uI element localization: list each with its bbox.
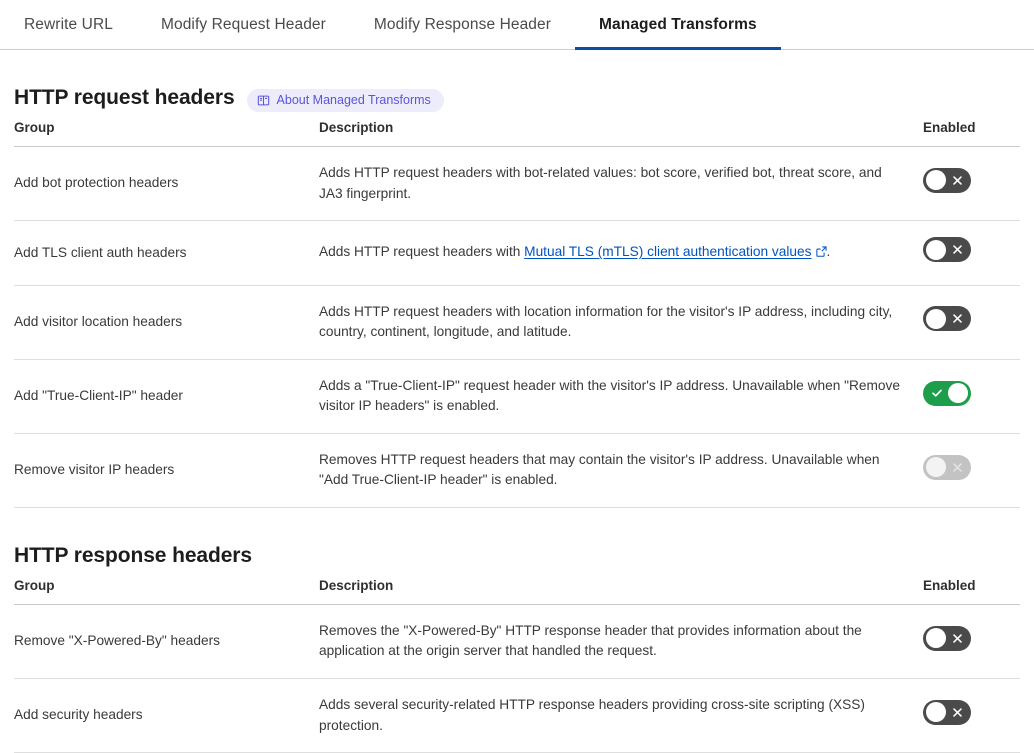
- row-description: Adds HTTP request headers with bot-relat…: [319, 147, 923, 221]
- response-section-title: HTTP response headers: [14, 544, 252, 568]
- tab-label: Managed Transforms: [599, 16, 757, 34]
- x-icon: [952, 455, 963, 480]
- tab-modify-request-header[interactable]: Modify Request Header: [137, 0, 350, 49]
- row-description: Removes the "X-Powered-By" HTTP response…: [319, 604, 923, 678]
- table-row: Remove "X-Powered-By" headers Removes th…: [14, 604, 1020, 678]
- row-enabled-cell: [923, 147, 1020, 221]
- row-enabled-cell: [923, 359, 1020, 433]
- toggle-knob: [926, 309, 946, 329]
- toggle-knob: [948, 383, 968, 403]
- row-description-after-link: .: [827, 244, 831, 259]
- toggle-add-visitor-location-headers[interactable]: [923, 306, 971, 331]
- row-enabled-cell: [923, 285, 1020, 359]
- request-section-header: HTTP request headers About Managed Trans…: [14, 76, 1020, 120]
- row-group-name: Add security headers: [14, 679, 319, 753]
- toggle-add-tls-client-auth-headers[interactable]: [923, 237, 971, 262]
- check-icon: [931, 381, 943, 406]
- row-description-before-link: Adds HTTP request headers with: [319, 244, 524, 259]
- toggle-add-true-client-ip-header[interactable]: [923, 381, 971, 406]
- column-header-description: Description: [319, 120, 923, 147]
- row-group-name: Add TLS client auth headers: [14, 221, 319, 286]
- row-group-name: Remove "X-Powered-By" headers: [14, 604, 319, 678]
- toggle-knob: [926, 457, 946, 477]
- http-request-headers-section: HTTP request headers About Managed Trans…: [0, 50, 1034, 508]
- tab-modify-response-header[interactable]: Modify Response Header: [350, 0, 575, 49]
- tab-label: Modify Response Header: [374, 16, 551, 34]
- row-description: Adds HTTP request headers with Mutual TL…: [319, 221, 923, 286]
- x-icon: [952, 626, 963, 651]
- row-enabled-cell: [923, 604, 1020, 678]
- toggle-knob: [926, 170, 946, 190]
- column-header-enabled: Enabled: [923, 120, 1020, 147]
- table-row: Add TLS client auth headers Adds HTTP re…: [14, 221, 1020, 286]
- about-managed-transforms-badge[interactable]: About Managed Transforms: [247, 89, 444, 112]
- toggle-add-bot-protection-headers[interactable]: [923, 168, 971, 193]
- row-description: Adds a "True-Client-IP" request header w…: [319, 359, 923, 433]
- row-group-name: Remove visitor IP headers: [14, 433, 319, 507]
- toggle-remove-visitor-ip-headers: [923, 455, 971, 480]
- tab-managed-transforms[interactable]: Managed Transforms: [575, 0, 781, 49]
- mutual-tls-link[interactable]: Mutual TLS (mTLS) client authentication …: [524, 244, 826, 259]
- tab-bar: Rewrite URL Modify Request Header Modify…: [0, 0, 1034, 50]
- row-enabled-cell: [923, 679, 1020, 753]
- table-row: Add bot protection headers Adds HTTP req…: [14, 147, 1020, 221]
- x-icon: [952, 168, 963, 193]
- tab-label: Modify Request Header: [161, 16, 326, 34]
- column-header-description: Description: [319, 578, 923, 605]
- response-section-header: HTTP response headers: [14, 534, 1020, 578]
- toggle-knob: [926, 628, 946, 648]
- toggle-knob: [926, 702, 946, 722]
- book-icon: [257, 94, 270, 107]
- toggle-remove-x-powered-by-headers[interactable]: [923, 626, 971, 651]
- link-label: Mutual TLS (mTLS) client authentication …: [524, 244, 811, 259]
- response-headers-table: Group Description Enabled Remove "X-Powe…: [14, 578, 1020, 753]
- tab-rewrite-url[interactable]: Rewrite URL: [14, 0, 137, 49]
- table-header-row: Group Description Enabled: [14, 578, 1020, 605]
- table-row: Add "True-Client-IP" header Adds a "True…: [14, 359, 1020, 433]
- page-title: HTTP request headers: [14, 86, 235, 110]
- table-row: Remove visitor IP headers Removes HTTP r…: [14, 433, 1020, 507]
- toggle-add-security-headers[interactable]: [923, 700, 971, 725]
- toggle-knob: [926, 240, 946, 260]
- row-description: Adds several security-related HTTP respo…: [319, 679, 923, 753]
- http-response-headers-section: HTTP response headers Group Description …: [0, 508, 1034, 753]
- row-description: Adds HTTP request headers with location …: [319, 285, 923, 359]
- x-icon: [952, 237, 963, 262]
- x-icon: [952, 306, 963, 331]
- row-enabled-cell: [923, 221, 1020, 286]
- column-header-group: Group: [14, 578, 319, 605]
- row-enabled-cell: [923, 433, 1020, 507]
- request-headers-table: Group Description Enabled Add bot protec…: [14, 120, 1020, 508]
- table-row: Add visitor location headers Adds HTTP r…: [14, 285, 1020, 359]
- tab-label: Rewrite URL: [24, 16, 113, 34]
- column-header-group: Group: [14, 120, 319, 147]
- row-group-name: Add visitor location headers: [14, 285, 319, 359]
- table-header-row: Group Description Enabled: [14, 120, 1020, 147]
- row-group-name: Add bot protection headers: [14, 147, 319, 221]
- badge-label: About Managed Transforms: [277, 94, 431, 107]
- column-header-enabled: Enabled: [923, 578, 1020, 605]
- table-row: Add security headers Adds several securi…: [14, 679, 1020, 753]
- row-group-name: Add "True-Client-IP" header: [14, 359, 319, 433]
- x-icon: [952, 700, 963, 725]
- external-link-icon: [816, 243, 827, 264]
- row-description: Removes HTTP request headers that may co…: [319, 433, 923, 507]
